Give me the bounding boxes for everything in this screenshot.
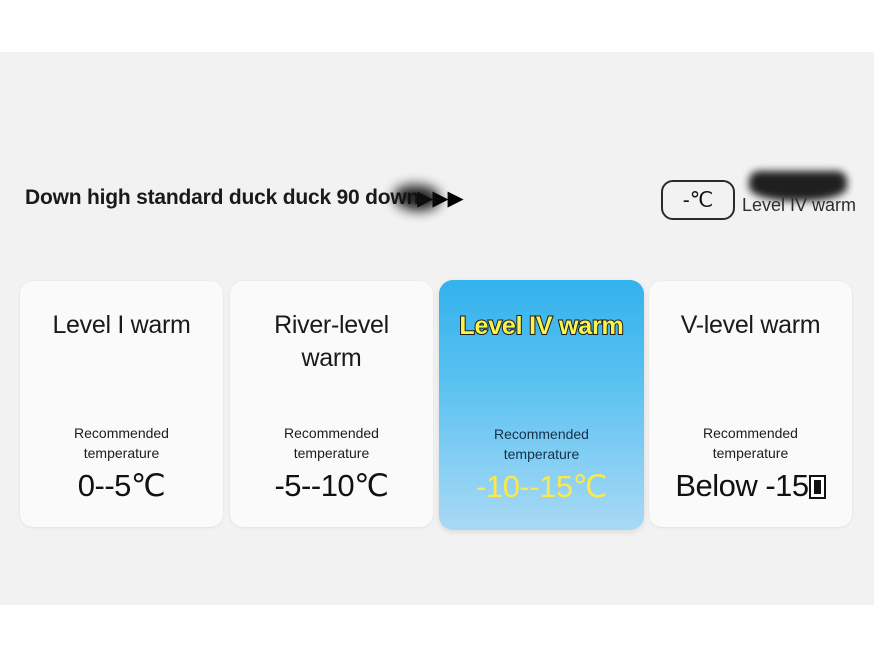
warmth-level-card-list: Level I warm Recommended temperature 0--… bbox=[20, 280, 856, 532]
warmth-level-card[interactable]: V-level warm Recommended temperature Bel… bbox=[649, 281, 852, 527]
card-recommended-label: Recommended temperature bbox=[47, 423, 197, 463]
warmth-level-card[interactable]: Level I warm Recommended temperature 0--… bbox=[20, 281, 223, 527]
missing-glyph-icon bbox=[809, 475, 826, 499]
card-title: V-level warm bbox=[681, 309, 821, 342]
card-temperature-value: -5--10℃ bbox=[274, 467, 388, 505]
card-temperature-value: -10--15℃ bbox=[476, 468, 607, 506]
temperature-unit-label: -℃ bbox=[683, 190, 714, 211]
warmth-level-card-selected[interactable]: Level IV warm Recommended temperature -1… bbox=[439, 280, 644, 530]
card-title: River-level warm bbox=[242, 309, 422, 375]
selected-level-tag: Level IV warm bbox=[742, 195, 856, 216]
card-recommended-label: Recommended temperature bbox=[676, 423, 826, 463]
card-temperature-value: 0--5℃ bbox=[78, 467, 165, 505]
app-screen: Down high standard duck duck 90 down ▶▶▶… bbox=[0, 0, 874, 656]
card-title: Level IV warm bbox=[459, 310, 623, 343]
temperature-unit-button[interactable]: -℃ bbox=[661, 180, 735, 220]
card-recommended-label: Recommended temperature bbox=[257, 423, 407, 463]
warmth-level-card[interactable]: River-level warm Recommended temperature… bbox=[230, 281, 433, 527]
card-temperature-text: Below -15 bbox=[675, 468, 808, 503]
card-recommended-label: Recommended temperature bbox=[467, 424, 617, 464]
card-temperature-value: Below -15 bbox=[675, 467, 825, 505]
page-title: Down high standard duck duck 90 down bbox=[25, 186, 419, 210]
card-title: Level I warm bbox=[52, 309, 190, 342]
